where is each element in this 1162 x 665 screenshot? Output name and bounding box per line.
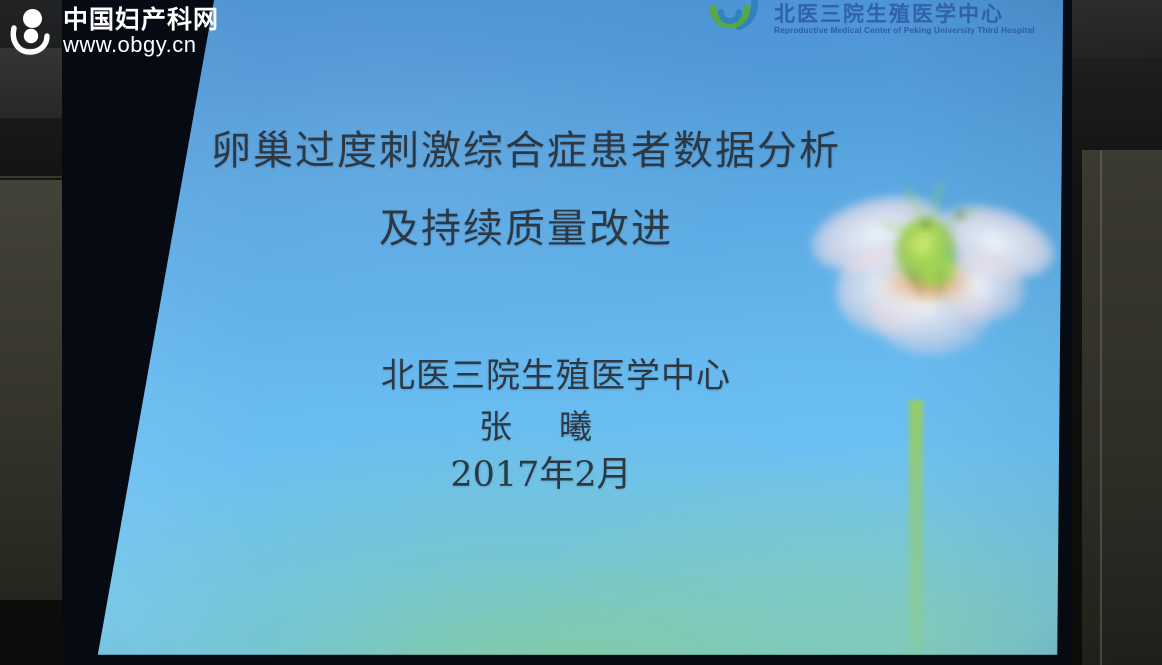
- circular-swirl-logo-icon: [694, 0, 766, 40]
- slide-title-line-2: 及持续质量改进: [126, 196, 926, 254]
- slide-header-logo-text: 北医三院生殖医学中心 Reproductive Medical Center o…: [774, 3, 1035, 40]
- slide-organization: 北医三院生殖医学中心: [126, 348, 986, 397]
- slide-header-logo-en: Reproductive Medical Center of Peking Un…: [774, 27, 1035, 36]
- site-watermark: 中国妇产科网 www.obgy.cn: [0, 0, 260, 62]
- slide-header-logo: 北医三院生殖医学中心 Reproductive Medical Center o…: [694, 0, 1064, 40]
- site-watermark-url: www.obgy.cn: [63, 34, 219, 56]
- wall-panel-right: [1082, 150, 1162, 665]
- site-watermark-text: 中国妇产科网 www.obgy.cn: [63, 7, 219, 56]
- presentation-slide: 北医三院生殖医学中心 Reproductive Medical Center o…: [86, 0, 1071, 660]
- slide-presenter-name: 张 曦: [126, 400, 946, 448]
- slide-header-logo-cn: 北医三院生殖医学中心: [774, 3, 1035, 25]
- slide-light-sheen: [86, 0, 1071, 660]
- slide-date: 2017年2月: [126, 446, 956, 497]
- mother-and-child-logo-icon: [6, 6, 56, 56]
- site-watermark-name: 中国妇产科网: [63, 7, 219, 32]
- wall-seam-vertical: [1100, 150, 1102, 665]
- slide-title-line-1: 卵巢过度刺激综合症患者数据分析: [126, 118, 926, 176]
- video-frame: 北医三院生殖医学中心 Reproductive Medical Center o…: [0, 0, 1162, 665]
- wall-panel-right-top: [1072, 0, 1162, 58]
